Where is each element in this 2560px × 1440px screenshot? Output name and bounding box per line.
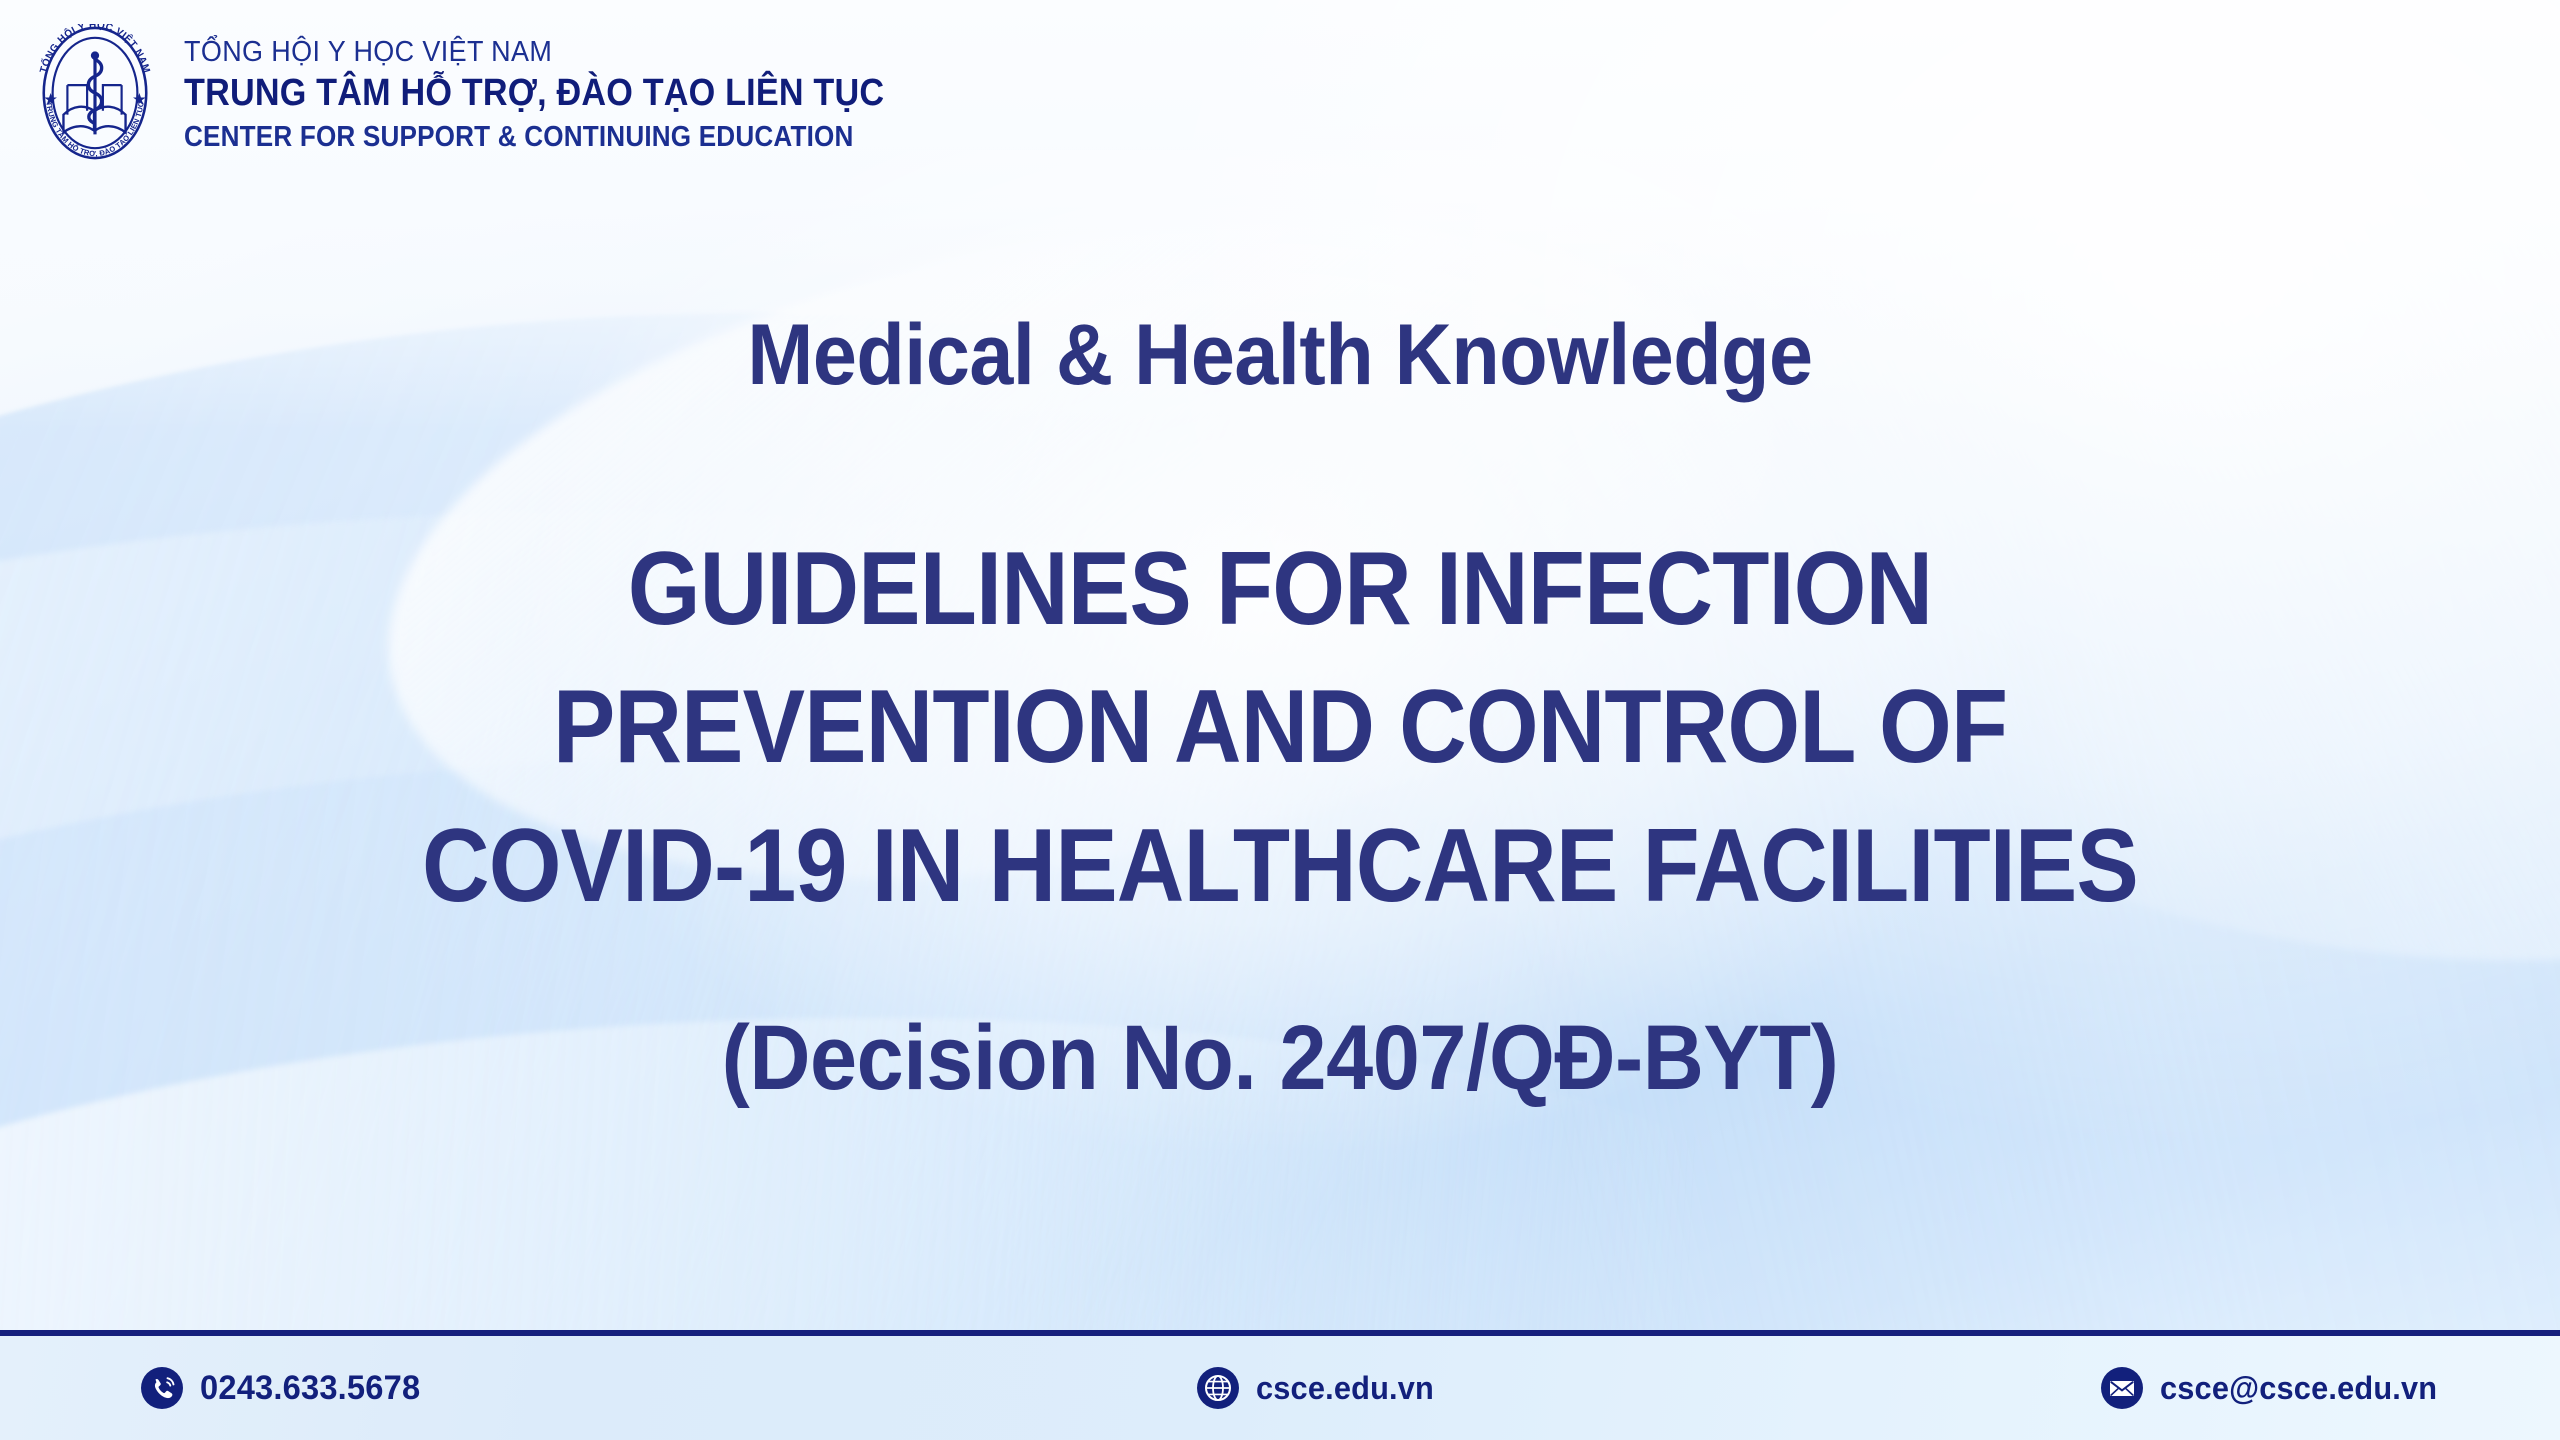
slide-title-line-3: COVID-19 IN HEALTHCARE FACILITIES [128,797,2432,935]
envelope-icon [2100,1366,2144,1410]
decision-reference: (Decision No. 2407/QĐ-BYT) [102,1012,2457,1104]
slide-title-line-2: PREVENTION AND CONTROL OF [128,658,2432,796]
footer-website-label: csce.edu.vn [1256,1370,1434,1407]
footer-phone-label: 0243.633.5678 [200,1369,420,1408]
logo-line-center-en: CENTER FOR SUPPORT & CONTINUING EDUCATIO… [184,120,884,155]
footer-website[interactable]: csce.edu.vn [1196,1366,1441,1410]
slide-title: GUIDELINES FOR INFECTION PREVENTION AND … [128,520,2432,935]
vietnam-medical-association-seal-icon: TỔNG HỘI Y HỌC VIỆT NAM TRUNG TÂM HỖ TRỢ… [26,24,164,162]
organization-name-block: TỔNG HỘI Y HỌC VIỆT NAM TRUNG TÂM HỖ TRỢ… [184,35,962,155]
footer-contact-items: 0243.633.5678 csce.edu.vn csce@csce.edu.… [0,1336,2560,1440]
slide-subtitle: Medical & Health Knowledge [102,312,2457,398]
phone-icon [140,1366,184,1410]
organization-logo: TỔNG HỘI Y HỌC VIỆT NAM TRUNG TÂM HỖ TRỢ… [26,24,962,162]
footer-email[interactable]: csce@csce.edu.vn [2100,1366,2449,1410]
globe-icon [1196,1366,1240,1410]
footer-phone[interactable]: 0243.633.5678 [140,1366,430,1410]
logo-line-center-vi: TRUNG TÂM HỖ TRỢ, ĐÀO TẠO LIÊN TỤC [184,71,884,116]
slide-root: TỔNG HỘI Y HỌC VIỆT NAM TRUNG TÂM HỖ TRỢ… [0,0,2560,1440]
logo-line-association: TỔNG HỘI Y HỌC VIỆT NAM [184,35,908,69]
slide-title-line-1: GUIDELINES FOR INFECTION [128,520,2432,658]
footer-email-label: csce@csce.edu.vn [2160,1370,2437,1407]
